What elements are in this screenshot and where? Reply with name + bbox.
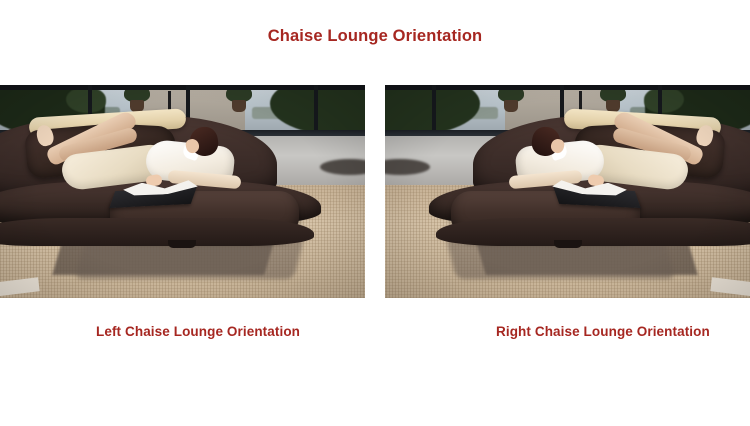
product-photo-right (385, 85, 750, 298)
comparison-figure: Chaise Lounge Orientation (0, 0, 750, 426)
caption-left-chaise: Left Chaise Lounge Orientation (96, 322, 346, 341)
comparison-panel-right[interactable] (385, 85, 750, 298)
image-comparison-row (0, 85, 750, 298)
caption-right-chaise: Right Chaise Lounge Orientation (496, 322, 746, 341)
window-frame-top (385, 85, 750, 90)
sofa-base (436, 218, 750, 246)
product-photo-left (0, 85, 365, 298)
comparison-panel-left[interactable] (0, 85, 365, 298)
window-frame-top (0, 85, 365, 90)
page-title: Chaise Lounge Orientation (0, 26, 750, 46)
sofa-base (0, 218, 314, 246)
sofa-foot (554, 240, 582, 248)
foliage (66, 87, 106, 113)
sofa-foot (168, 240, 196, 248)
